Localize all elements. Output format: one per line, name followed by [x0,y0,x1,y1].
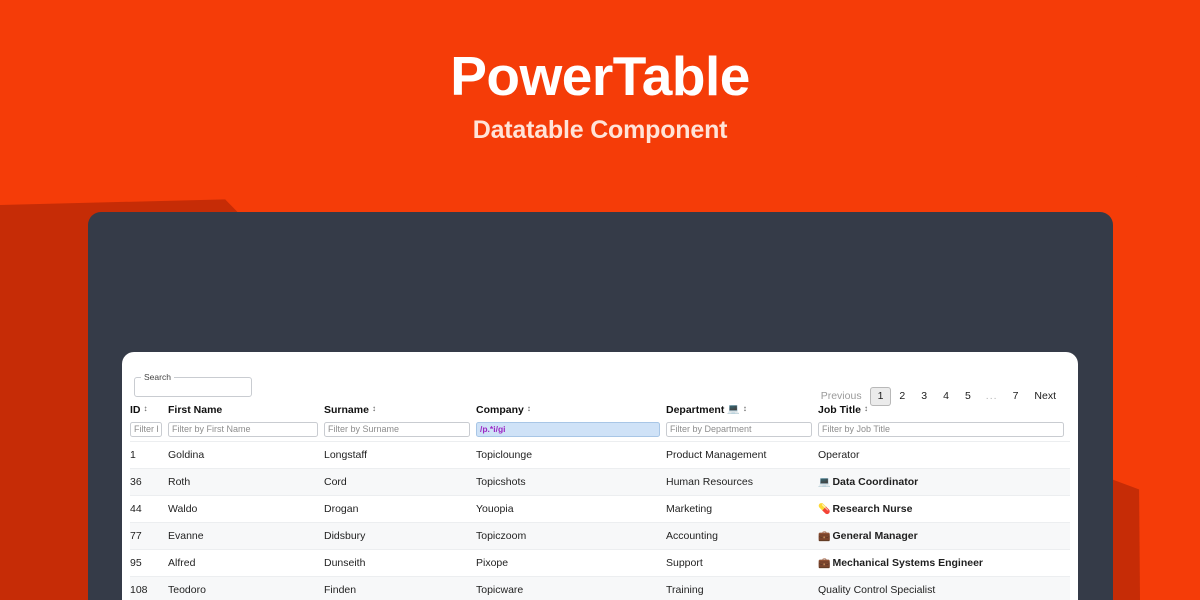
sort-arrows-icon[interactable]: ↕ [372,405,376,413]
sort-arrows-icon[interactable]: ↕ [864,405,868,413]
column-header-surname[interactable]: Surname↕ [324,404,476,419]
column-header-label: Company [476,404,524,416]
pagination-page-4[interactable]: 4 [935,388,957,405]
cell-job_title: 💼Mechanical Systems Engineer [818,550,1070,577]
filter-input-surname[interactable] [324,422,470,437]
table-row[interactable]: 108TeodoroFindenTopicwareTrainingQuality… [130,577,1070,600]
cell-id: 44 [130,496,168,523]
briefcase-icon: 💼 [818,558,830,569]
cell-surname: Drogan [324,496,476,523]
table-filter-row [130,419,1070,442]
cell-department: Human Resources [666,469,818,496]
cell-surname: Finden [324,577,476,600]
pagination-page-3[interactable]: 3 [913,388,935,405]
cell-id: 108 [130,577,168,600]
pagination-page-5[interactable]: 5 [957,388,979,405]
pill-icon: 💊 [818,504,830,515]
cell-id: 95 [130,550,168,577]
search-fieldset[interactable]: Search [134,372,252,397]
search-label: Search [141,372,174,382]
cell-surname: Dunseith [324,550,476,577]
table-row[interactable]: 95AlfredDunseithPixopeSupport💼Mechanical… [130,550,1070,577]
cell-job_title: 💻Data Coordinator [818,469,1070,496]
table-row[interactable]: 1GoldinaLongstaffTopicloungeProduct Mana… [130,442,1070,469]
cell-department: Accounting [666,523,818,550]
cell-company: Pixope [476,550,666,577]
cell-surname: Didsbury [324,523,476,550]
cell-id: 1 [130,442,168,469]
cell-id: 36 [130,469,168,496]
cell-department: Training [666,577,818,600]
datatable-toolbar: Search Previous 1 2 3 4 5 ... 7 Next [130,360,1070,404]
filter-cell-job_title [818,419,1070,442]
cell-surname: Longstaff [324,442,476,469]
filter-input-company[interactable] [476,422,660,437]
cell-job_title: Operator [818,442,1070,469]
column-header-department[interactable]: Department💻↕ [666,404,818,419]
pagination-page-2[interactable]: 2 [891,388,913,405]
cell-company: Topicware [476,577,666,600]
cell-company: Topicshots [476,469,666,496]
cell-company: Topiczoom [476,523,666,550]
pagination-previous[interactable]: Previous [813,388,870,405]
cell-job_title: Quality Control Specialist [818,577,1070,600]
column-header-label: First Name [168,404,222,416]
filter-cell-department [666,419,818,442]
cell-first_name: Teodoro [168,577,324,600]
table-row[interactable]: 36RothCordTopicshotsHuman Resources💻Data… [130,469,1070,496]
cell-first_name: Goldina [168,442,324,469]
table-body: 1GoldinaLongstaffTopicloungeProduct Mana… [130,442,1070,600]
column-header-label: ID [130,404,141,416]
filter-cell-first_name [168,419,324,442]
filter-input-job_title[interactable] [818,422,1064,437]
filter-input-department[interactable] [666,422,812,437]
column-header-id[interactable]: ID↕ [130,404,168,419]
cell-first_name: Alfred [168,550,324,577]
cell-department: Marketing [666,496,818,523]
column-header-company[interactable]: Company↕ [476,404,666,419]
cell-job_title: 💼General Manager [818,523,1070,550]
pagination-next[interactable]: Next [1026,388,1064,405]
briefcase-icon: 💼 [818,531,830,542]
filter-cell-company [476,419,666,442]
cell-first_name: Evanne [168,523,324,550]
cell-surname: Cord [324,469,476,496]
sort-arrows-icon[interactable]: ↕ [527,405,531,413]
background-wedge-right [1135,0,1200,600]
laptop-icon: 💻 [818,477,830,488]
filter-cell-id [130,419,168,442]
sort-arrows-icon[interactable]: ↕ [743,405,747,413]
datatable-card: Search Previous 1 2 3 4 5 ... 7 Next [122,352,1078,600]
cell-department: Product Management [666,442,818,469]
column-header-job_title[interactable]: Job Title↕ [818,404,1070,419]
column-header-first_name[interactable]: First Name [168,404,324,419]
datatable: ID↕First NameSurname↕Company↕Department💻… [130,404,1070,600]
cell-first_name: Waldo [168,496,324,523]
cell-first_name: Roth [168,469,324,496]
background-wedge-top [0,0,1200,205]
search-input[interactable] [139,386,247,399]
laptop-icon: 💻 [727,405,739,415]
filter-input-id[interactable] [130,422,162,437]
cell-id: 77 [130,523,168,550]
table-row[interactable]: 77EvanneDidsburyTopiczoomAccounting💼Gene… [130,523,1070,550]
column-header-label: Surname [324,404,369,416]
cell-job_title: 💊Research Nurse [818,496,1070,523]
table-header-row: ID↕First NameSurname↕Company↕Department💻… [130,404,1070,419]
filter-input-first_name[interactable] [168,422,318,437]
cell-department: Support [666,550,818,577]
cell-company: Youopia [476,496,666,523]
cell-company: Topiclounge [476,442,666,469]
pagination-page-1[interactable]: 1 [870,387,892,406]
column-header-label: Job Title [818,404,861,416]
column-header-label: Department [666,404,724,416]
table-row[interactable]: 44WaldoDroganYouopiaMarketing💊Research N… [130,496,1070,523]
filter-cell-surname [324,419,476,442]
sort-arrows-icon[interactable]: ↕ [144,405,148,413]
pagination-ellipsis: ... [979,388,1005,405]
pagination-page-last[interactable]: 7 [1005,388,1027,405]
